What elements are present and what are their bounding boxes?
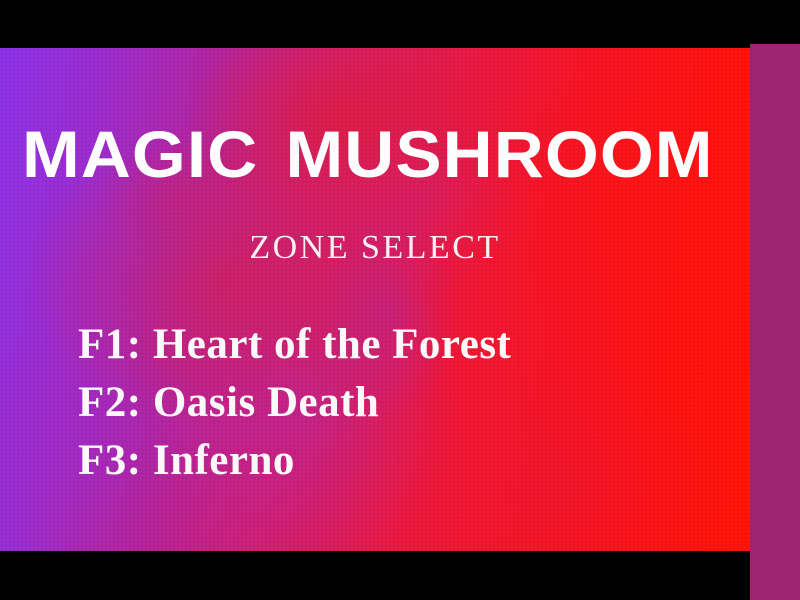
letterbox-bar-top (0, 0, 750, 48)
title-screen-text: MAGICMUSHROOM ZONE SELECT F1: Heart of t… (0, 48, 750, 551)
menu-item-f3-inferno[interactable]: F3: Inferno (78, 432, 750, 490)
letterbox-bar-bottom (0, 551, 750, 600)
game-screen: MAGICMUSHROOM ZONE SELECT F1: Heart of t… (0, 0, 800, 600)
menu-item-f2-oasis-death[interactable]: F2: Oasis Death (78, 374, 750, 432)
menu-item-f1-heart-of-the-forest[interactable]: F1: Heart of the Forest (78, 316, 750, 374)
zone-select-menu: F1: Heart of the Forest F2: Oasis Death … (78, 316, 750, 490)
game-title-word-mushroom: MUSHROOM (286, 117, 714, 191)
game-title: MAGICMUSHROOM (22, 121, 788, 187)
game-title-word-magic: MAGIC (22, 117, 258, 191)
zone-select-subtitle: ZONE SELECT (0, 231, 750, 265)
right-border-strip (750, 44, 800, 600)
